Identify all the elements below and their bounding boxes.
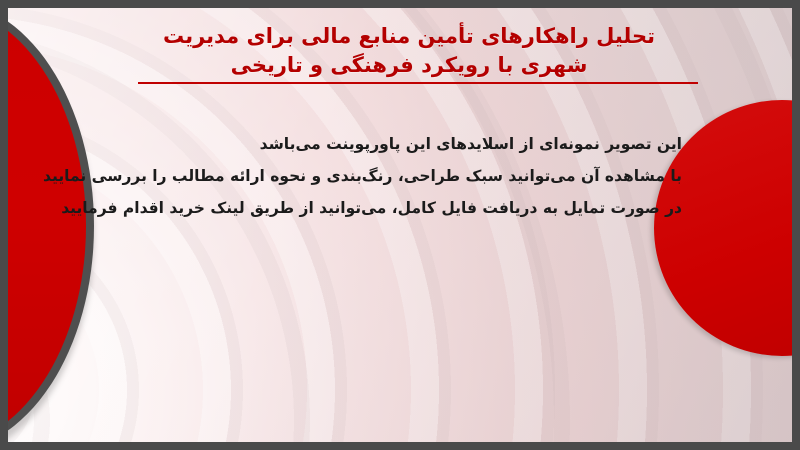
body-line-3: در صورت تمایل به دریافت فایل کامل، می‌تو… [82,192,682,224]
slide-content-panel: تحلیل راهکارهای تأمین منابع مالی برای مد… [8,8,792,442]
slide-title-line-2: شهری با رویکرد فرهنگی و تاریخی [104,51,714,80]
slide-title: تحلیل راهکارهای تأمین منابع مالی برای مد… [104,22,714,80]
body-line-1: این تصویر نمونه‌ای از اسلایدهای این پاور… [82,128,682,160]
slide-body-text: این تصویر نمونه‌ای از اسلایدهای این پاور… [82,128,682,224]
title-underline-rule [138,82,698,84]
slide-title-line-1: تحلیل راهکارهای تأمین منابع مالی برای مد… [104,22,714,51]
body-line-2: با مشاهده آن می‌توانید سبک طراحی، رنگ‌بن… [82,160,682,192]
slide-canvas: تحلیل راهکارهای تأمین منابع مالی برای مد… [0,0,800,450]
